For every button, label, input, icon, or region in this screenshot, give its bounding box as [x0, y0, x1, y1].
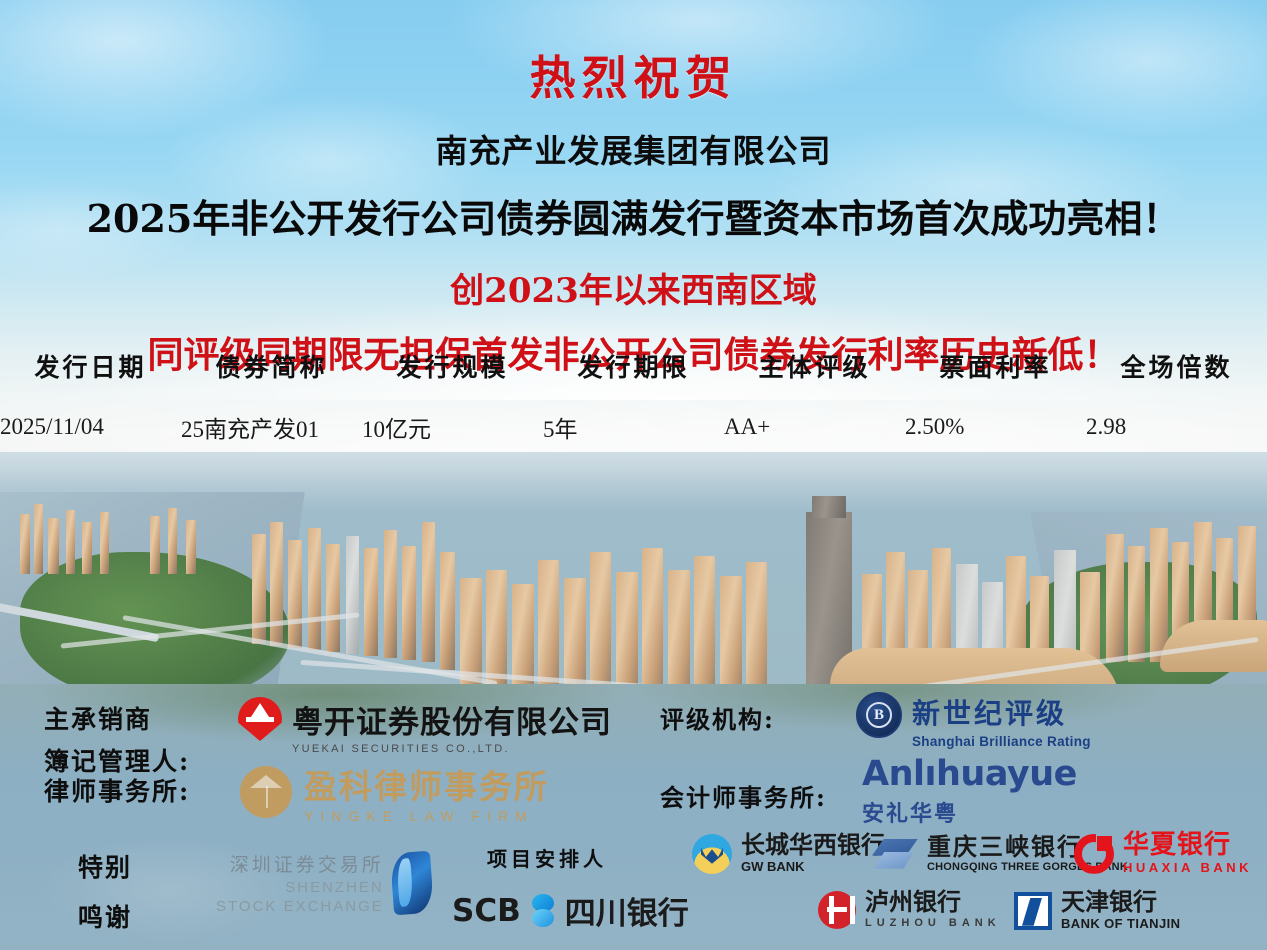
project-arranger-label: 项目安排人: [487, 843, 607, 872]
luzhou-bank-logo: 泸州银行 LUZHOU BANK: [818, 890, 1001, 929]
yingke-name-cn: 盈科律师事务所: [304, 760, 549, 808]
law-firm-label-text: 律师事务所:: [44, 777, 190, 806]
huaxia-bank-logo: 华夏银行 HUAXIA BANK: [1074, 832, 1252, 876]
luzhou-bank-mark-icon: [818, 891, 856, 929]
value-issue-size: 10亿元: [362, 410, 543, 452]
table-header-row: 发行日期 债券简称 发行规模 发行期限 主体评级 票面利率 全场倍数: [0, 344, 1267, 410]
rating-agency-label-text: 评级机构:: [660, 705, 775, 734]
col-header-bond-name: 债券简称: [181, 344, 362, 410]
gw-bank-name-cn: 长城华西银行: [741, 833, 885, 858]
underwriter-label: 主承销商 簿记管理人:: [44, 700, 190, 778]
shanghai-brilliance-rating-logo: B 新世纪评级 Shanghai Brilliance Rating: [856, 692, 1091, 749]
col-header-issue-date: 发行日期: [0, 344, 181, 410]
gw-bank-logo: 长城华西银行 GW BANK: [692, 833, 885, 874]
law-firm-label: 律师事务所:: [44, 772, 190, 808]
special-thanks-line1: 特别: [78, 848, 132, 884]
value-issuer-rating: AA+: [724, 410, 905, 452]
szse-name-cn: 深圳证券交易所: [230, 850, 384, 877]
huaxia-bank-name-en: HUAXIA BANK: [1123, 861, 1252, 875]
yingke-cube-icon: [240, 766, 292, 818]
szse-name-en1: SHENZHEN: [285, 879, 384, 896]
huaxia-bank-name-cn: 华夏银行: [1123, 832, 1252, 859]
col-header-issuer-rating: 主体评级: [724, 344, 905, 410]
yuekai-name-cn: 粤开证券股份有限公司: [292, 697, 612, 742]
bank-of-tianjin-logo: 天津银行 BANK OF TIANJIN: [1014, 890, 1180, 931]
congratulation-poster: 热烈祝贺 南充产业发展集团有限公司 2025年非公开发行公司债券圆满发行暨资本市…: [0, 0, 1267, 950]
yuekai-securities-logo: 粤开证券股份有限公司 YUEKAI SECURITIES CO.,LTD.: [238, 697, 612, 755]
record-line-1: 创2023年以来西南区域: [0, 263, 1267, 312]
special-thanks-line2: 鸣谢: [78, 898, 132, 934]
gw-bank-name-en: GW BANK: [741, 860, 885, 874]
yuekai-mark-icon: [238, 697, 282, 741]
yuekai-name-en: YUEKAI SECURITIES CO.,LTD.: [292, 743, 612, 755]
sichuan-bank-logo: SCB 四川银行: [452, 888, 689, 933]
scb-mark-icon: [528, 894, 558, 928]
brilliance-seal-icon: B: [856, 692, 902, 738]
luzhou-bank-name-cn: 泸州银行: [865, 890, 1001, 915]
scb-abbr: SCB: [452, 893, 521, 929]
value-tenor: 5年: [543, 410, 724, 452]
tianjin-bank-name-en: BANK OF TIANJIN: [1061, 917, 1180, 931]
luzhou-bank-name-en: LUZHOU BANK: [865, 917, 1001, 929]
anlihuayue-logo: Anlıhuayue 安礼华粤: [862, 757, 1077, 828]
anlihuayue-name-cn: 安礼华粤: [862, 796, 1077, 828]
brilliance-name-en: Shanghai Brilliance Rating: [912, 734, 1091, 749]
anlihuayue-name-en: Anlıhuayue: [862, 757, 1077, 792]
building-cluster: [0, 452, 1267, 700]
col-header-subscription: 全场倍数: [1086, 344, 1267, 410]
value-bond-name: 25南充产发01: [181, 410, 362, 452]
value-issue-date: 2025/11/04: [0, 410, 181, 452]
value-subscription: 2.98: [1086, 410, 1267, 452]
headline-block: 热烈祝贺 南充产业发展集团有限公司 2025年非公开发行公司债券圆满发行暨资本市…: [0, 0, 1267, 378]
accounting-firm-label: 会计师事务所:: [660, 778, 827, 813]
congratulations-title: 热烈祝贺: [0, 42, 1267, 108]
col-header-tenor: 发行期限: [543, 344, 724, 410]
scb-name-cn: 四川银行: [565, 888, 689, 933]
huaxia-bank-mark-icon: [1074, 834, 1114, 874]
main-announcement: 2025年非公开发行公司债券圆满发行暨资本市场首次成功亮相！: [0, 188, 1267, 243]
col-header-issue-size: 发行规模: [362, 344, 543, 410]
brilliance-name-cn: 新世纪评级: [912, 692, 1091, 732]
table-row: 2025/11/04 25南充产发01 10亿元 5年 AA+ 2.50% 2.…: [0, 410, 1267, 452]
szse-name-en2: STOCK EXCHANGE: [216, 898, 384, 915]
tianjin-bank-mark-icon: [1014, 892, 1052, 930]
shenzhen-stock-exchange-logo: 深圳证券交易所 SHENZHEN STOCK EXCHANGE: [216, 850, 432, 915]
issuer-company-name: 南充产业发展集团有限公司: [0, 126, 1267, 172]
tianjin-bank-name-cn: 天津银行: [1061, 890, 1180, 915]
szse-sail-icon: [390, 850, 434, 915]
value-coupon-rate: 2.50%: [905, 410, 1086, 452]
yingke-law-firm-logo: 盈科律师事务所 YINGKE LAW FIRM: [240, 760, 549, 824]
cq-bank-mark-icon: [872, 839, 918, 869]
accounting-firm-label-text: 会计师事务所:: [660, 783, 827, 812]
gw-bank-mark-icon: [692, 834, 732, 874]
yingke-name-en: YINGKE LAW FIRM: [304, 808, 549, 824]
underwriter-label-line1: 主承销商: [44, 700, 190, 736]
project-arranger-label-text: 项目安排人: [487, 847, 607, 871]
rating-agency-label: 评级机构:: [660, 700, 775, 735]
col-header-coupon-rate: 票面利率: [905, 344, 1086, 410]
city-skyline-photo: [0, 452, 1267, 700]
brilliance-seal-letter: B: [866, 702, 892, 728]
bond-details-table: 发行日期 债券简称 发行规模 发行期限 主体评级 票面利率 全场倍数 2025/…: [0, 344, 1267, 452]
special-thanks-label: 特别 鸣谢: [78, 848, 132, 934]
